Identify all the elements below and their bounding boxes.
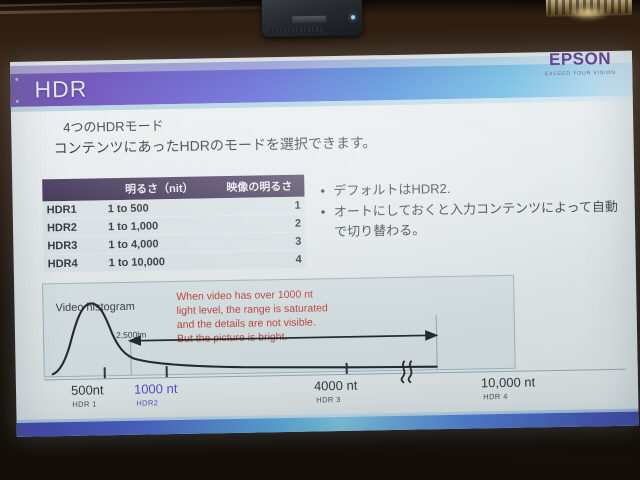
projected-slide: HDR EPSON EXCEED YOUR VISION 4つのHDRモード コ… — [10, 51, 639, 437]
projector-icon — [262, 0, 363, 37]
header-corner-dot-top — [15, 78, 18, 81]
fixture-glow — [566, 6, 610, 20]
video-histogram-panel: Video histogram When video has over 1000… — [42, 275, 516, 378]
axis-tick-label: 1000 nt — [134, 381, 178, 397]
axis-tick — [346, 363, 348, 374]
bullet-marker: • — [321, 203, 334, 221]
table-row: HDR41 to 10,0004 — [44, 251, 306, 274]
cell-picture: 1 — [216, 199, 305, 213]
bullet-text: オートにしておくと入力コンテンツによって自動 — [334, 197, 618, 220]
bullet-text-continuation: で切り替わる。 — [321, 218, 631, 241]
axis-tick — [166, 366, 168, 377]
hdr-mode-table: 明るさ（nit） 映像の明るさ HDR11 to 5001HDR21 to 1,… — [42, 175, 306, 274]
cell-mode: HDR2 — [43, 221, 108, 234]
axis-tick-sublabel: HDR 4 — [483, 392, 508, 401]
slide-surface: HDR EPSON EXCEED YOUR VISION 4つのHDRモード コ… — [10, 51, 639, 437]
table-header-picture-brightness: 映像の明るさ — [214, 178, 304, 196]
projector-lens — [292, 16, 326, 24]
axis-tick-label: 4000 nt — [314, 378, 358, 394]
cell-range: 1 to 1,000 — [108, 219, 216, 233]
axis-tick-sublabel: HDR 1 — [72, 399, 97, 408]
screenshot-stage: HDR EPSON EXCEED YOUR VISION 4つのHDRモード コ… — [0, 0, 640, 480]
bullet-marker: • — [320, 182, 333, 200]
table-header-blank — [42, 189, 104, 190]
subtitle-line-1: 4つのHDRモード — [63, 115, 164, 136]
axis-tick — [104, 367, 106, 378]
cell-range: 1 to 4,000 — [108, 237, 216, 251]
histogram-curve — [43, 276, 515, 377]
cell-mode: HDR3 — [43, 239, 108, 252]
cell-range: 1 to 10,000 — [109, 255, 217, 269]
axis-tick-label: 10,000 nt — [481, 374, 535, 390]
axis-tick-sublabel: HDR2 — [136, 398, 158, 407]
cell-range: 1 to 500 — [108, 201, 216, 215]
subtitle-line-2: コンテンツにあったHDRのモードを選択できます。 — [53, 132, 376, 158]
axis-tick-label: 500nt — [71, 382, 104, 398]
page-title: HDR — [34, 76, 87, 104]
axis-tick-sublabel: HDR 3 — [316, 395, 341, 404]
cell-mode: HDR1 — [43, 203, 108, 216]
header-corner-dot-bottom — [16, 100, 19, 103]
cell-picture: 2 — [216, 217, 305, 231]
projector-vent — [270, 27, 324, 33]
cell-mode: HDR4 — [44, 257, 109, 270]
bullet-list: • デフォルトはHDR2. • オートにしておくと入力コンテンツによって自動 で… — [320, 177, 631, 241]
table-header-brightness-nit: 明るさ（nit） — [104, 179, 214, 197]
bullet-text: デフォルトはHDR2. — [333, 180, 450, 200]
epson-wordmark: EPSON — [534, 51, 626, 71]
projector-status-led — [351, 15, 355, 19]
table-body: HDR11 to 5001HDR21 to 1,0002HDR31 to 4,0… — [43, 197, 306, 274]
cell-picture: 3 — [217, 235, 306, 249]
list-item: • デフォルトはHDR2. — [320, 177, 630, 200]
cell-picture: 4 — [217, 253, 306, 267]
range-arrow — [130, 331, 436, 345]
break-symbol-icon — [396, 359, 422, 385]
epson-logo: EPSON EXCEED YOUR VISION — [534, 51, 626, 78]
list-item: • オートにしておくと入力コンテンツによって自動 — [321, 197, 631, 220]
